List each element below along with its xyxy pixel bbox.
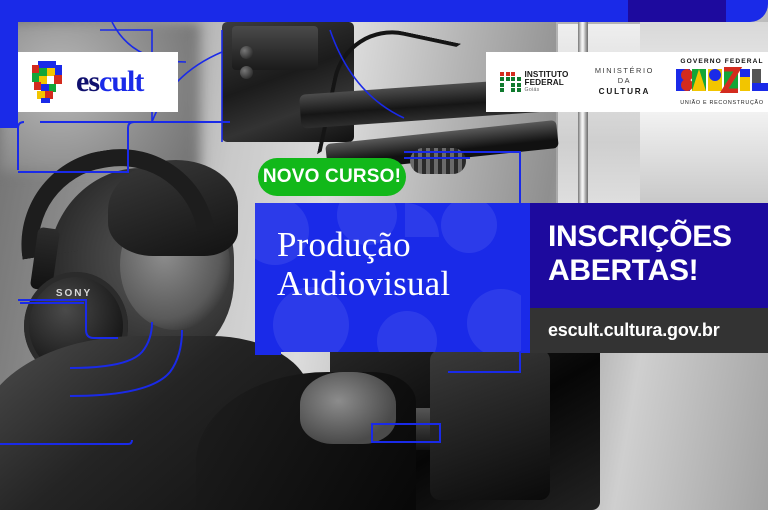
cta-line2: ABERTAS!	[548, 254, 732, 288]
cta-panel: INSCRIÇÕES ABERTAS!	[530, 203, 768, 308]
course-title: Produção Audiovisual	[277, 225, 450, 303]
institution-logos-box: INSTITUTO FEDERAL Goiás MINISTÉRIO DA CU…	[486, 52, 768, 112]
instituto-federal-campus: Goiás	[525, 88, 571, 93]
ministerio-line1: MINISTÉRIO DA	[595, 66, 654, 86]
course-title-line2: Audiovisual	[277, 264, 450, 303]
governo-federal-top-text: GOVERNO FEDERAL	[676, 58, 768, 65]
cta-line1: INSCRIÇÕES	[548, 220, 732, 254]
course-promotion-banner: SONY	[0, 0, 768, 510]
novo-curso-badge: NOVO CURSO!	[258, 158, 406, 196]
logo-text-es: es	[76, 65, 99, 98]
left-blue-edge-lower	[0, 82, 18, 128]
panel-divider-strip	[521, 203, 530, 353]
ministerio-cultura-logo: MINISTÉRIO DA CULTURA	[595, 66, 654, 97]
website-url: escult.cultura.gov.br	[548, 320, 720, 341]
brasil-wordmark-icon	[676, 67, 768, 98]
cta-text: INSCRIÇÕES ABERTAS!	[548, 220, 732, 288]
escult-wordmark: escult	[76, 67, 143, 97]
instituto-federal-logo: INSTITUTO FEDERAL Goiás	[500, 71, 571, 94]
ministerio-line2: CULTURA	[595, 86, 654, 97]
instituto-federal-text: INSTITUTO FEDERAL Goiás	[525, 71, 571, 94]
course-title-line1: Produção	[277, 225, 450, 264]
colored-face-mosaic-icon	[28, 60, 68, 104]
website-url-band[interactable]: escult.cultura.gov.br	[530, 308, 768, 353]
left-blue-edge-upper	[0, 22, 18, 82]
governo-federal-bottom-text: UNIÃO E RECONSTRUÇÃO	[676, 100, 768, 106]
novo-curso-badge-label: NOVO CURSO!	[263, 166, 401, 188]
course-title-panel: Produção Audiovisual	[255, 203, 530, 352]
top-bar-dark-segment	[628, 0, 726, 22]
logo-text-cult: cult	[99, 65, 143, 98]
escult-logo-box[interactable]: escult	[18, 52, 178, 112]
governo-federal-logo: GOVERNO FEDERAL UNI	[676, 58, 768, 106]
instituto-federal-name: INSTITUTO FEDERAL	[525, 71, 571, 88]
instituto-federal-grid-icon	[500, 72, 521, 93]
